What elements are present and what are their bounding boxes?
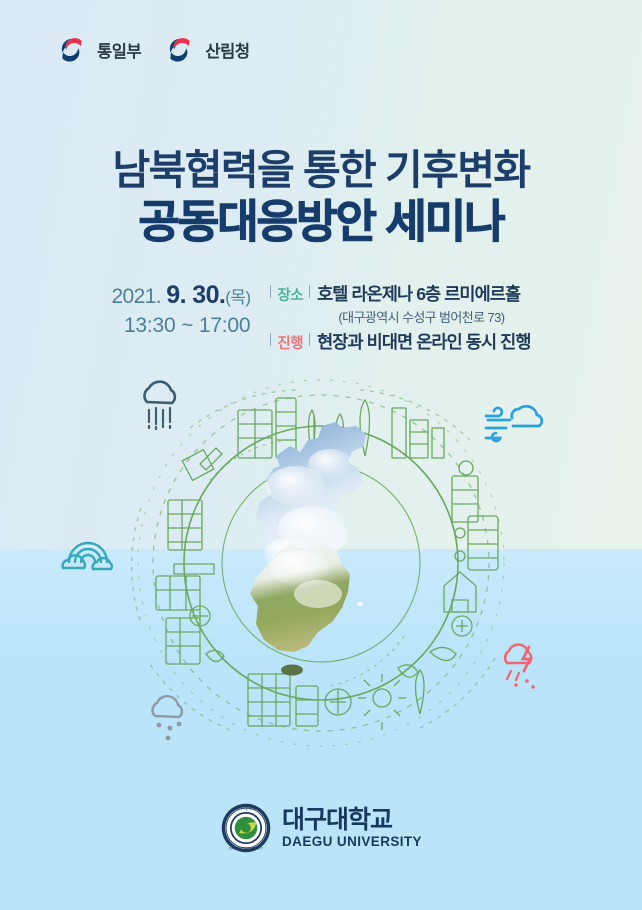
svg-text:DAEGU UNIVERSITY: DAEGU UNIVERSITY [229,847,264,851]
event-date: 2021. 9. 30.(목) [111,279,250,311]
thunderstorm-cloud-icon [497,641,549,694]
korean-peninsula-map [250,422,366,676]
title-line-2: 공동대응방안 세미나 [0,196,642,248]
rain-cloud-icon [133,378,191,435]
ulleung-island-shape [357,602,363,606]
university-logo: 대 구 대 학 교 DAEGU UNIVERSITY 대구대학교 DAEGU U… [0,802,642,854]
ring-buildings-bottom [248,665,424,730]
mode-description: 현장과 비대면 온라인 동시 진행 [317,329,530,354]
event-date-year: 2021. [111,285,161,308]
event-datetime: 2021. 9. 30.(목) 13:30 ~ 17:00 [111,279,266,339]
jeju-island-shape [281,665,303,676]
venue-line: 장소 호텔 라온제나 6층 르미에르홀 [270,281,530,306]
title-line-1: 남북협력을 통한 기후변화 [0,148,642,194]
mode-line: 진행 현장과 비대면 온라인 동시 진행 [270,329,530,354]
government-logo-group: 통일부 산림청 [55,33,250,67]
event-date-dayofweek: (목) [225,288,250,307]
university-name-block: 대구대학교 DAEGU UNIVERSITY [282,807,422,850]
svg-text:대 구 대 학 교: 대 구 대 학 교 [236,806,256,811]
wind-cloud-icon [482,402,546,449]
event-location: 장소 호텔 라온제나 6층 르미에르홀 (대구광역시 수성구 범어천로 73) … [266,279,530,354]
seminar-poster: 통일부 산림청 남북협력을 통한 기후변화 공동대응방안 세미나 2021. 9… [0,0,642,910]
logo-korea-forest-service: 산림청 [163,33,249,67]
poster-title: 남북협력을 통한 기후변화 공동대응방안 세미나 [0,148,642,248]
event-date-monthday: 9. 30. [166,281,225,309]
venue-name: 호텔 라온제나 6층 르미에르홀 [317,281,520,306]
venue-address: (대구광역시 수성구 범어천로 73) [270,307,530,326]
university-name-en: DAEGU UNIVERSITY [282,835,422,849]
logo-label: 산림청 [205,38,249,62]
university-name-ko: 대구대학교 [282,807,422,834]
mode-tag: 진행 [270,332,310,353]
logo-ministry-of-unification: 통일부 [55,33,141,67]
event-time: 13:30 ~ 17:00 [111,312,250,339]
korea-government-emblem-icon [55,33,89,67]
daegu-university-seal-icon: 대 구 대 학 교 DAEGU UNIVERSITY [220,802,272,854]
event-info: 2021. 9. 30.(목) 13:30 ~ 17:00 장소 호텔 라온제나… [0,279,642,354]
korea-government-emblem-icon [163,33,197,67]
rainbow-cloud-icon [55,532,121,579]
logo-label: 통일부 [97,38,141,62]
snow-cloud-icon [143,692,197,747]
ring-buildings-left [156,448,224,664]
venue-tag: 장소 [270,284,310,305]
